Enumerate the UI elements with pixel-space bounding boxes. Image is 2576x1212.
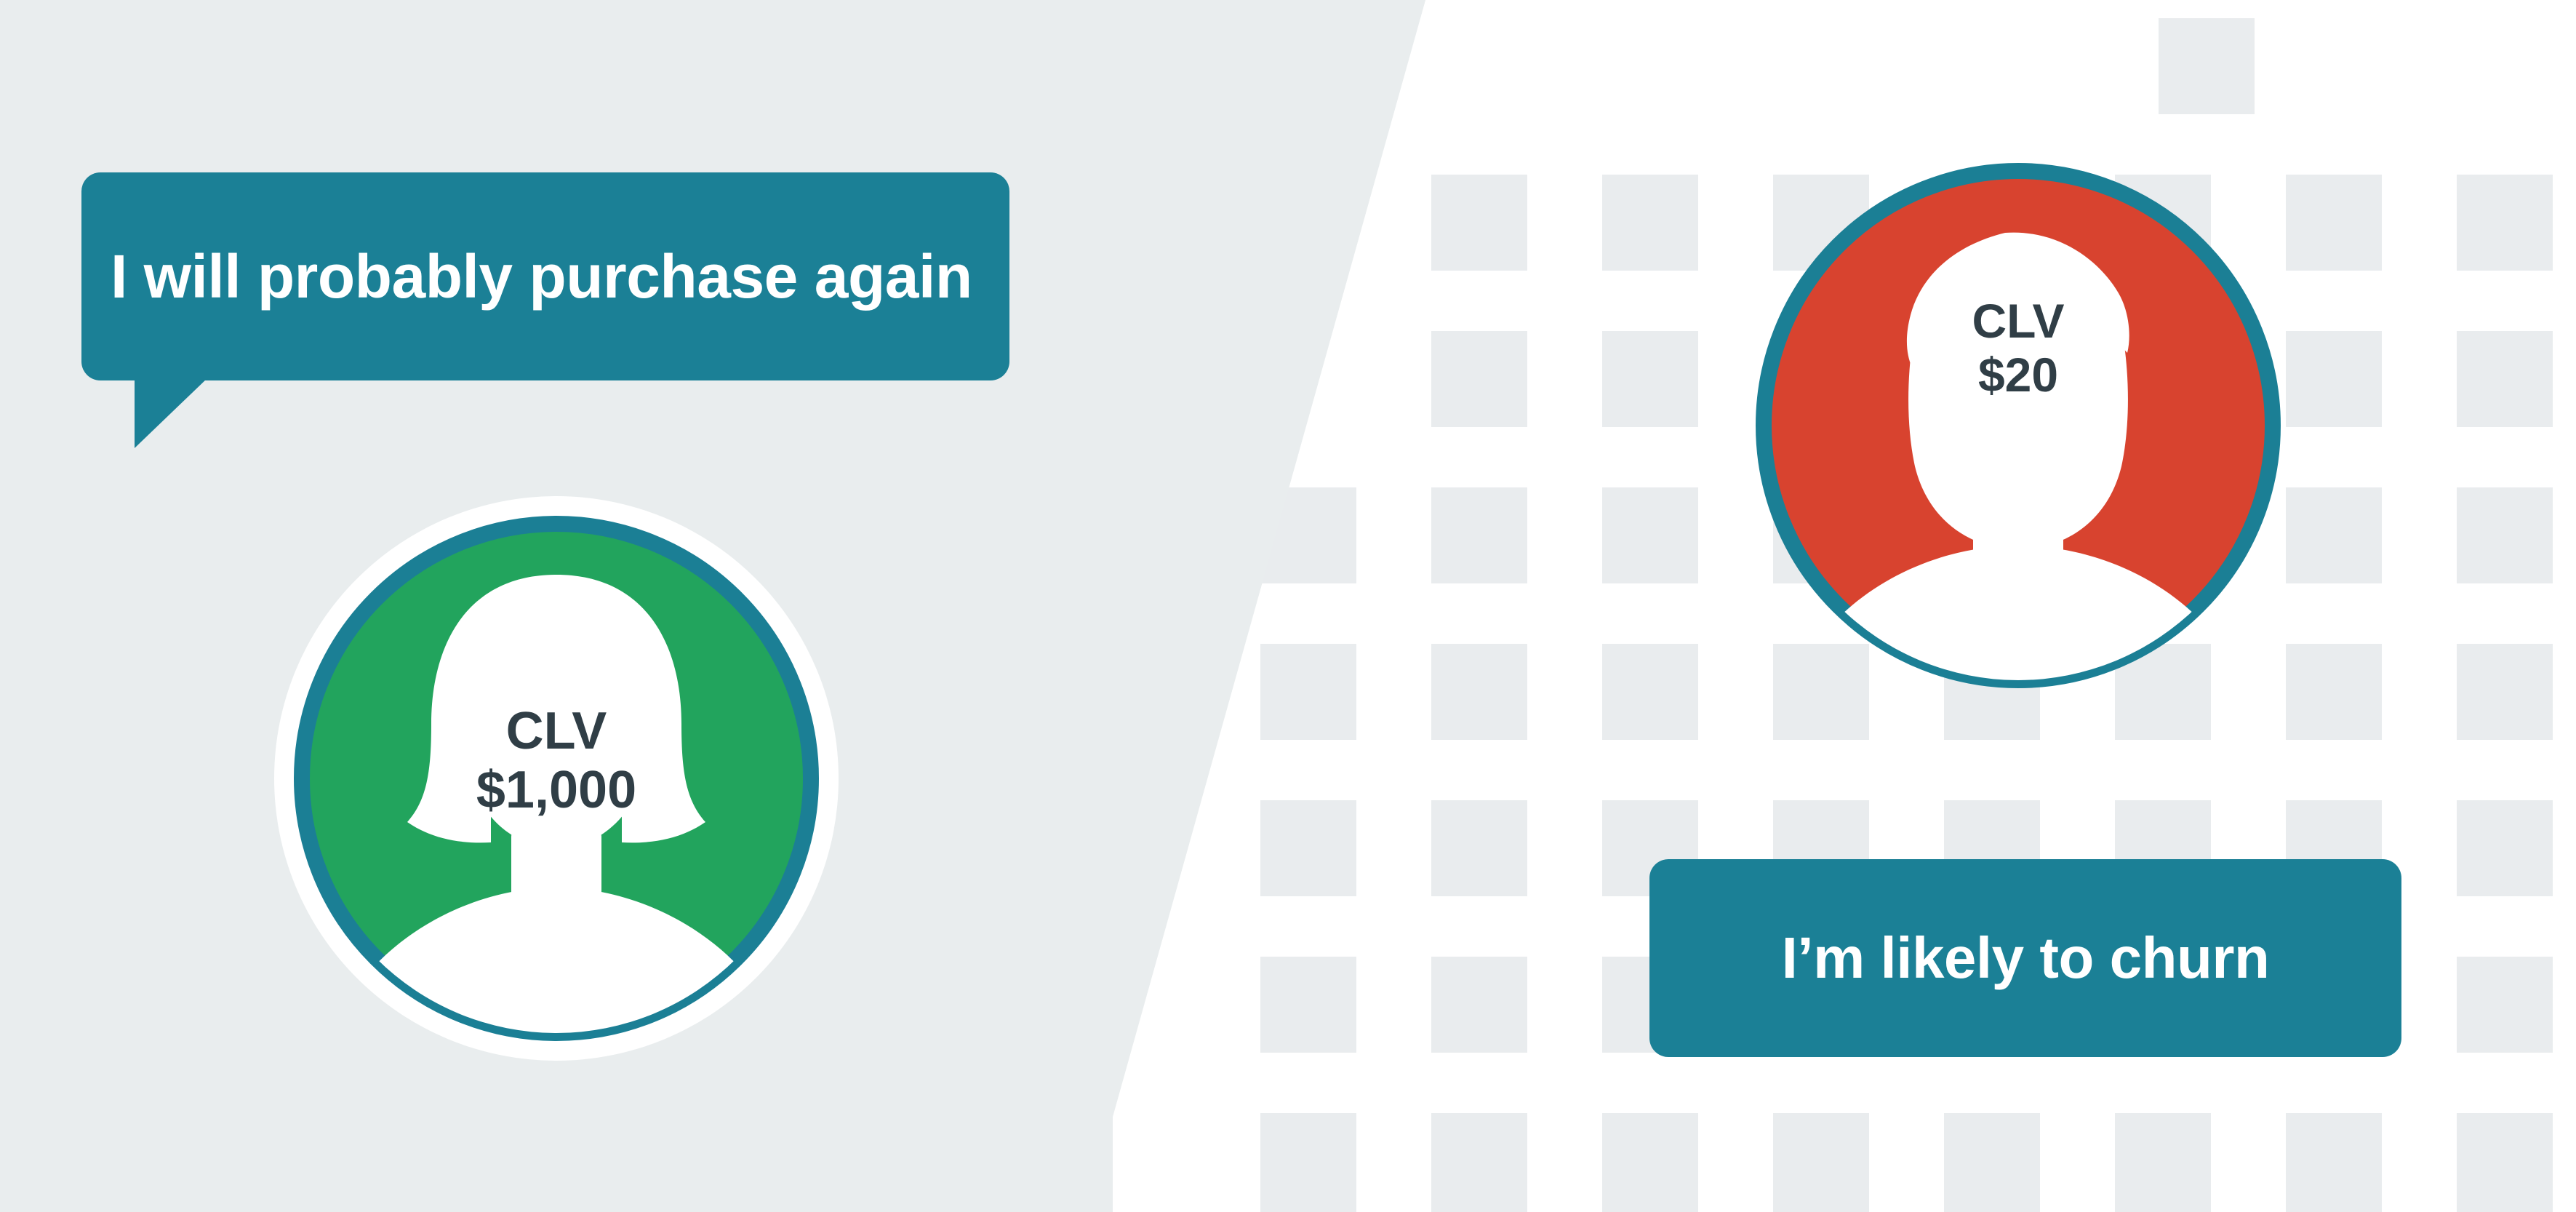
- speech-bubble-loyal-tail: [135, 378, 207, 448]
- speech-bubble-churn[interactable]: I’m likely to churn: [1649, 859, 2401, 1057]
- speech-bubble-churn-text: I’m likely to churn: [1649, 929, 2401, 987]
- avatar-low-value-customer[interactable]: CLV $20: [1720, 127, 2316, 724]
- speech-bubble-loyal[interactable]: I will probably purchase again: [81, 172, 1009, 380]
- infographic-canvas: I will probably purchase again: [0, 0, 2576, 1212]
- avatar-high-value-customer[interactable]: CLV $1,000: [258, 480, 855, 1077]
- speech-bubble-loyal-text: I will probably purchase again: [81, 246, 1009, 307]
